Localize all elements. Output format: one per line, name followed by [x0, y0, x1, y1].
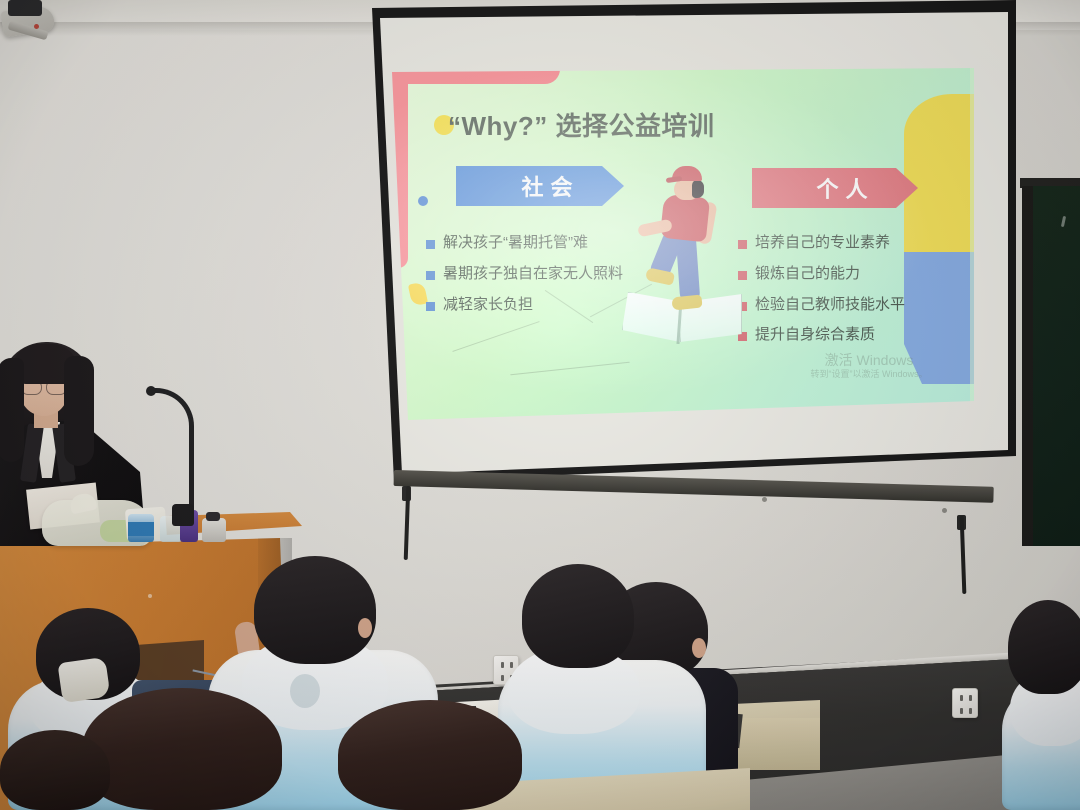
list-item: 提升自身综合素质: [738, 326, 958, 345]
decor-yellow-block: [904, 94, 974, 252]
student-long-hair-front-left: [0, 730, 110, 810]
person-standing-on-open-book-illustration: [618, 160, 744, 360]
list-item: 解决孩子“暑期托管”难: [426, 234, 638, 253]
bullet-label: 解决孩子“暑期托管”难: [443, 234, 588, 253]
bullet-column-personal: 培养自己的专业素养 锻炼自己的能力 检验自己教师技能水平 提升自身综合素质: [738, 234, 958, 357]
decor-blue-dot: [418, 196, 428, 206]
banner-personal: 个人: [752, 168, 918, 208]
student-long-hair-center: [338, 700, 522, 810]
screen-canvas: “Why?” 选择公益培训 社会 个人 解决孩子“暑期托管”难 暑期孩子独自在家…: [376, 12, 1008, 474]
decor-right-edge: [970, 68, 974, 420]
list-item: 培养自己的专业素养: [738, 234, 958, 253]
wall-outlet-right: [952, 688, 978, 718]
student-long-hair-left: [82, 688, 282, 810]
screen-bottom-bar: [394, 470, 994, 503]
banner-society: 社会: [456, 166, 624, 206]
decor-pink-top-bar: [400, 68, 560, 84]
bullet-square-icon: [426, 302, 435, 311]
bottle-cap: [206, 512, 220, 521]
list-item: 暑期孩子独自在家无人照料: [426, 265, 638, 284]
grey-bottle: [202, 518, 226, 542]
list-item: 检验自己教师技能水平: [738, 296, 958, 315]
list-item: 锻炼自己的能力: [738, 265, 958, 284]
screen-bar-screw: [942, 508, 947, 513]
bullet-column-society: 解决孩子“暑期托管”难 暑期孩子独自在家无人照料 减轻家长负担: [426, 234, 638, 326]
list-item: 减轻家长负担: [426, 296, 638, 315]
bullet-label: 锻炼自己的能力: [755, 265, 860, 284]
chalkboard: [1022, 186, 1080, 546]
slide-title-row: “Why?” 选择公益培训: [434, 106, 715, 143]
presentation-slide: “Why?” 选择公益培训 社会 个人 解决孩子“暑期托管”难 暑期孩子独自在家…: [390, 68, 974, 420]
banner-society-label: 社会: [521, 170, 579, 202]
student-right-hooded: [1008, 600, 1080, 810]
screen-bar-screw: [762, 497, 767, 502]
bullet-label: 检验自己教师技能水平: [755, 296, 905, 315]
bullet-label: 提升自身综合素质: [755, 326, 875, 345]
decor-pink-left-bar: [390, 68, 408, 268]
gooseneck-microphone: [148, 388, 198, 528]
bullet-square-icon: [426, 271, 435, 280]
slide-title: “Why?” 选择公益培训: [448, 106, 715, 143]
bullet-label: 暑期孩子独自在家无人照料: [443, 265, 623, 284]
bullet-label: 培养自己的专业素养: [755, 234, 890, 253]
bullet-label: 减轻家长负担: [443, 296, 533, 315]
bullet-square-icon: [426, 240, 435, 249]
security-camera-icon: [0, 0, 70, 48]
screen-scratch: [510, 362, 629, 376]
banner-personal-label: 个人: [816, 172, 874, 204]
illustration-person: [632, 166, 732, 316]
classroom-photo: “Why?” 选择公益培训 社会 个人 解决孩子“暑期托管”难 暑期孩子独自在家…: [0, 0, 1080, 810]
projection-screen: “Why?” 选择公益培训 社会 个人 解决孩子“暑期托管”难 暑期孩子独自在家…: [366, 0, 1016, 520]
